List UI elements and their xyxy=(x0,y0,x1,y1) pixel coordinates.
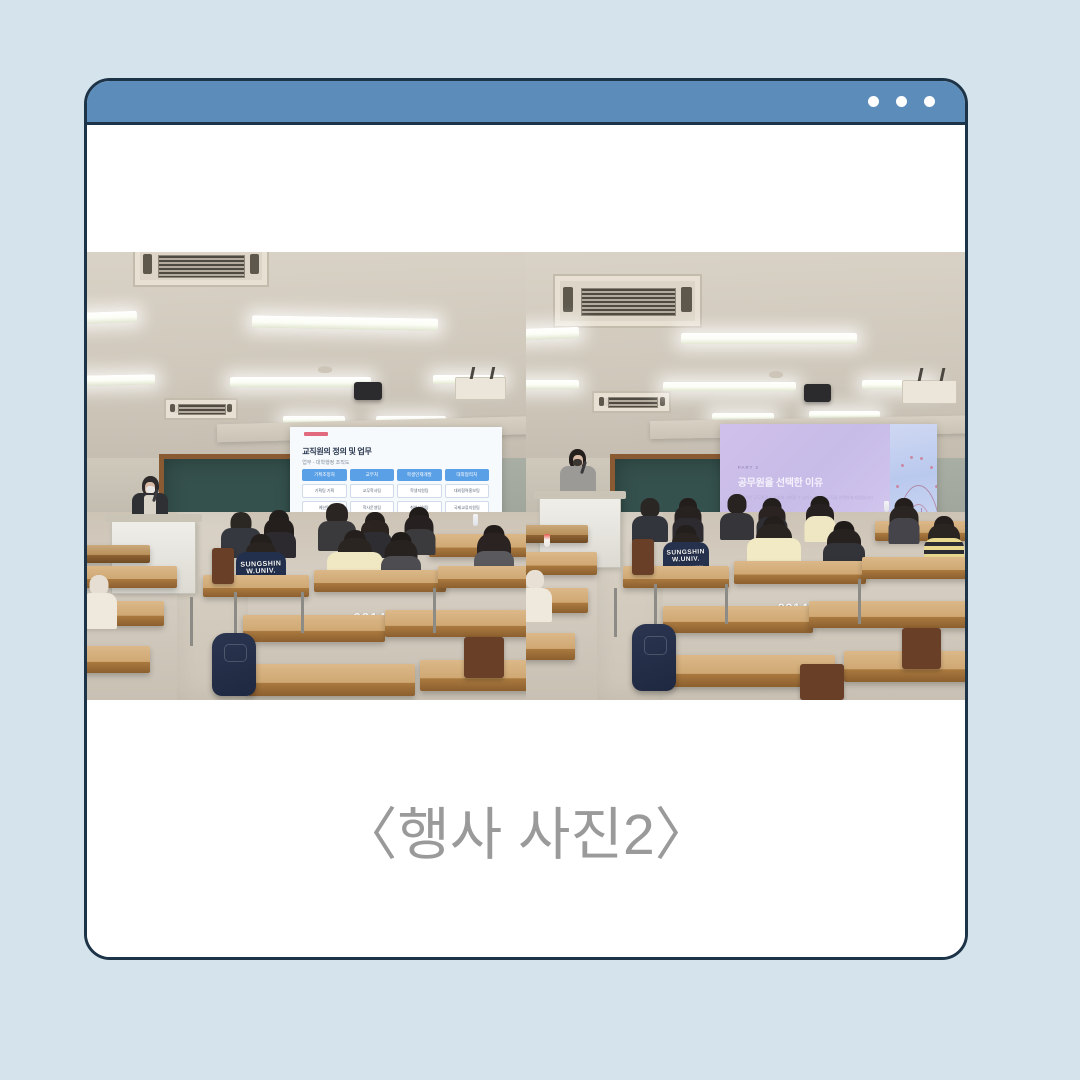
projector-mount-icon xyxy=(455,377,506,399)
chair xyxy=(632,539,654,575)
ac-vent-icon xyxy=(553,274,703,327)
desk xyxy=(248,664,416,695)
desk-leg xyxy=(433,588,436,633)
window-dot-2-icon[interactable] xyxy=(896,96,907,107)
desk-leg xyxy=(301,592,304,632)
ceiling-light xyxy=(84,374,155,385)
desk xyxy=(314,570,447,592)
table-header-cell: 기획조정처 xyxy=(302,469,346,481)
desk-leg xyxy=(858,579,861,624)
window-content: 교직원의 정의 및 업무 업무 - 대학행정 조직도 기획조정처 교무처 학생인… xyxy=(87,125,965,957)
chair xyxy=(464,637,504,677)
table-cell: 교무학사팀 xyxy=(350,484,394,498)
desk xyxy=(862,557,968,579)
desk xyxy=(385,610,526,637)
projector-icon xyxy=(804,384,831,402)
drink-cup xyxy=(544,534,550,547)
desk-leg xyxy=(234,592,237,632)
slide-accent-bar xyxy=(304,432,327,436)
table-header-cell: 대외협력처 xyxy=(445,469,489,481)
desk xyxy=(809,601,968,628)
smoke-detector-icon xyxy=(318,366,332,373)
caption-text: 〈행사 사진2〉 xyxy=(340,789,711,871)
ac-vent-secondary-icon xyxy=(592,391,671,413)
window-controls xyxy=(868,96,935,107)
desk xyxy=(526,525,588,543)
ac-vent-secondary-icon xyxy=(164,398,239,420)
table-header-cell: 학생인재개발 xyxy=(397,469,441,481)
window-title-bar xyxy=(87,81,965,125)
slide-table-header-row: 기획조정처 교무처 학생인재개발 대외협력처 xyxy=(302,469,489,481)
desk xyxy=(84,545,150,563)
student-person xyxy=(888,498,920,544)
desk-leg xyxy=(190,597,193,646)
desk xyxy=(663,606,813,633)
caption-area: 〈행사 사진2〉 xyxy=(87,700,965,960)
table-row: 기획팀 기획 교무학사팀 학생지원팀 대외협력홍보팀 xyxy=(302,484,489,498)
student-person xyxy=(84,575,118,629)
student-person xyxy=(526,570,553,622)
photo-right: PART 2 공무원을 선택한 이유 안정적인 근무환경과 사회에 기여할 수 … xyxy=(526,252,968,700)
ac-vent-icon xyxy=(133,252,270,287)
chair xyxy=(902,628,942,668)
slide-title: 공무원을 선택한 이유 xyxy=(738,474,873,489)
table-cell: 기획팀 기획 xyxy=(302,484,346,498)
desk xyxy=(243,615,384,642)
slide-subtitle: 업무 - 대학행정 조직도 xyxy=(302,459,489,466)
desk xyxy=(84,646,150,673)
chair xyxy=(800,664,844,700)
varsity-jacket-text: SUNGSHIN W.UNIV. xyxy=(241,560,282,576)
window-dot-3-icon[interactable] xyxy=(924,96,935,107)
table-cell: 대외협력홍보팀 xyxy=(445,484,489,498)
photo-left: 교직원의 정의 및 업무 업무 - 대학행정 조직도 기획조정처 교무처 학생인… xyxy=(84,252,526,700)
desk-leg xyxy=(654,584,657,624)
desk-leg xyxy=(725,584,728,624)
water-bottle xyxy=(473,514,478,526)
desk-leg xyxy=(614,588,617,637)
desk xyxy=(734,561,867,583)
table-header-cell: 교무처 xyxy=(350,469,394,481)
smoke-detector-icon xyxy=(769,371,783,378)
projector-icon xyxy=(354,382,383,400)
ceiling-light xyxy=(663,382,796,391)
desk xyxy=(438,566,526,588)
backpack xyxy=(212,633,256,696)
ceiling-light xyxy=(230,377,371,387)
window-dot-1-icon[interactable] xyxy=(868,96,879,107)
table-cell: 학생지원팀 xyxy=(397,484,441,498)
window-card: 교직원의 정의 및 업무 업무 - 대학행정 조직도 기획조정처 교무처 학생인… xyxy=(84,78,968,960)
ceiling-light xyxy=(526,380,579,389)
slide-title: 교직원의 정의 및 업무 xyxy=(302,446,489,457)
desk xyxy=(526,633,575,660)
ceiling-light xyxy=(681,333,858,345)
projector-mount-icon xyxy=(902,380,957,404)
backpack xyxy=(632,624,676,691)
photo-strip: 교직원의 정의 및 업무 업무 - 대학행정 조직도 기획조정처 교무처 학생인… xyxy=(84,252,968,700)
chair xyxy=(212,548,234,584)
slide-part-label: PART 2 xyxy=(738,465,873,470)
